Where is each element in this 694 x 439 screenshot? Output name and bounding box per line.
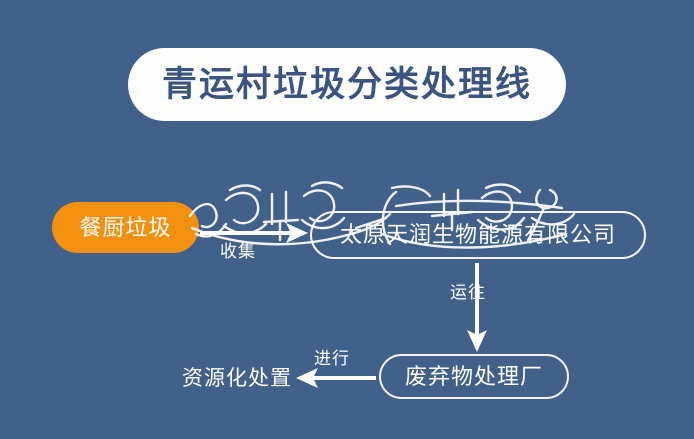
arrow-transport-label: 运往 [450, 284, 486, 301]
node-resource-disposal-label: 资源化处置 [182, 368, 292, 389]
node-kitchen-waste-label: 餐厨垃圾 [79, 217, 171, 239]
diagram-canvas: 青运村垃圾分类处理线 餐厨垃圾 太原天润生物能源有限公司 废弃物处理厂 资源化处… [0, 0, 694, 439]
node-company-label: 太原天润生物能源有限公司 [340, 224, 616, 246]
arrow-collect [200, 223, 308, 243]
arrow-transport [467, 263, 487, 352]
title-pill: 青运村垃圾分类处理线 [128, 48, 566, 121]
page-title: 青运村垃圾分类处理线 [162, 67, 532, 102]
node-kitchen-waste[interactable]: 餐厨垃圾 [52, 202, 199, 253]
node-company[interactable]: 太原天润生物能源有限公司 [310, 211, 646, 259]
node-waste-plant[interactable]: 废弃物处理厂 [379, 354, 569, 399]
arrow-process-label: 进行 [314, 350, 350, 367]
arrow-process [296, 368, 376, 388]
node-resource-disposal[interactable]: 资源化处置 [172, 364, 302, 392]
arrow-collect-label: 收集 [220, 243, 256, 260]
node-waste-plant-label: 废弃物处理厂 [405, 366, 543, 388]
